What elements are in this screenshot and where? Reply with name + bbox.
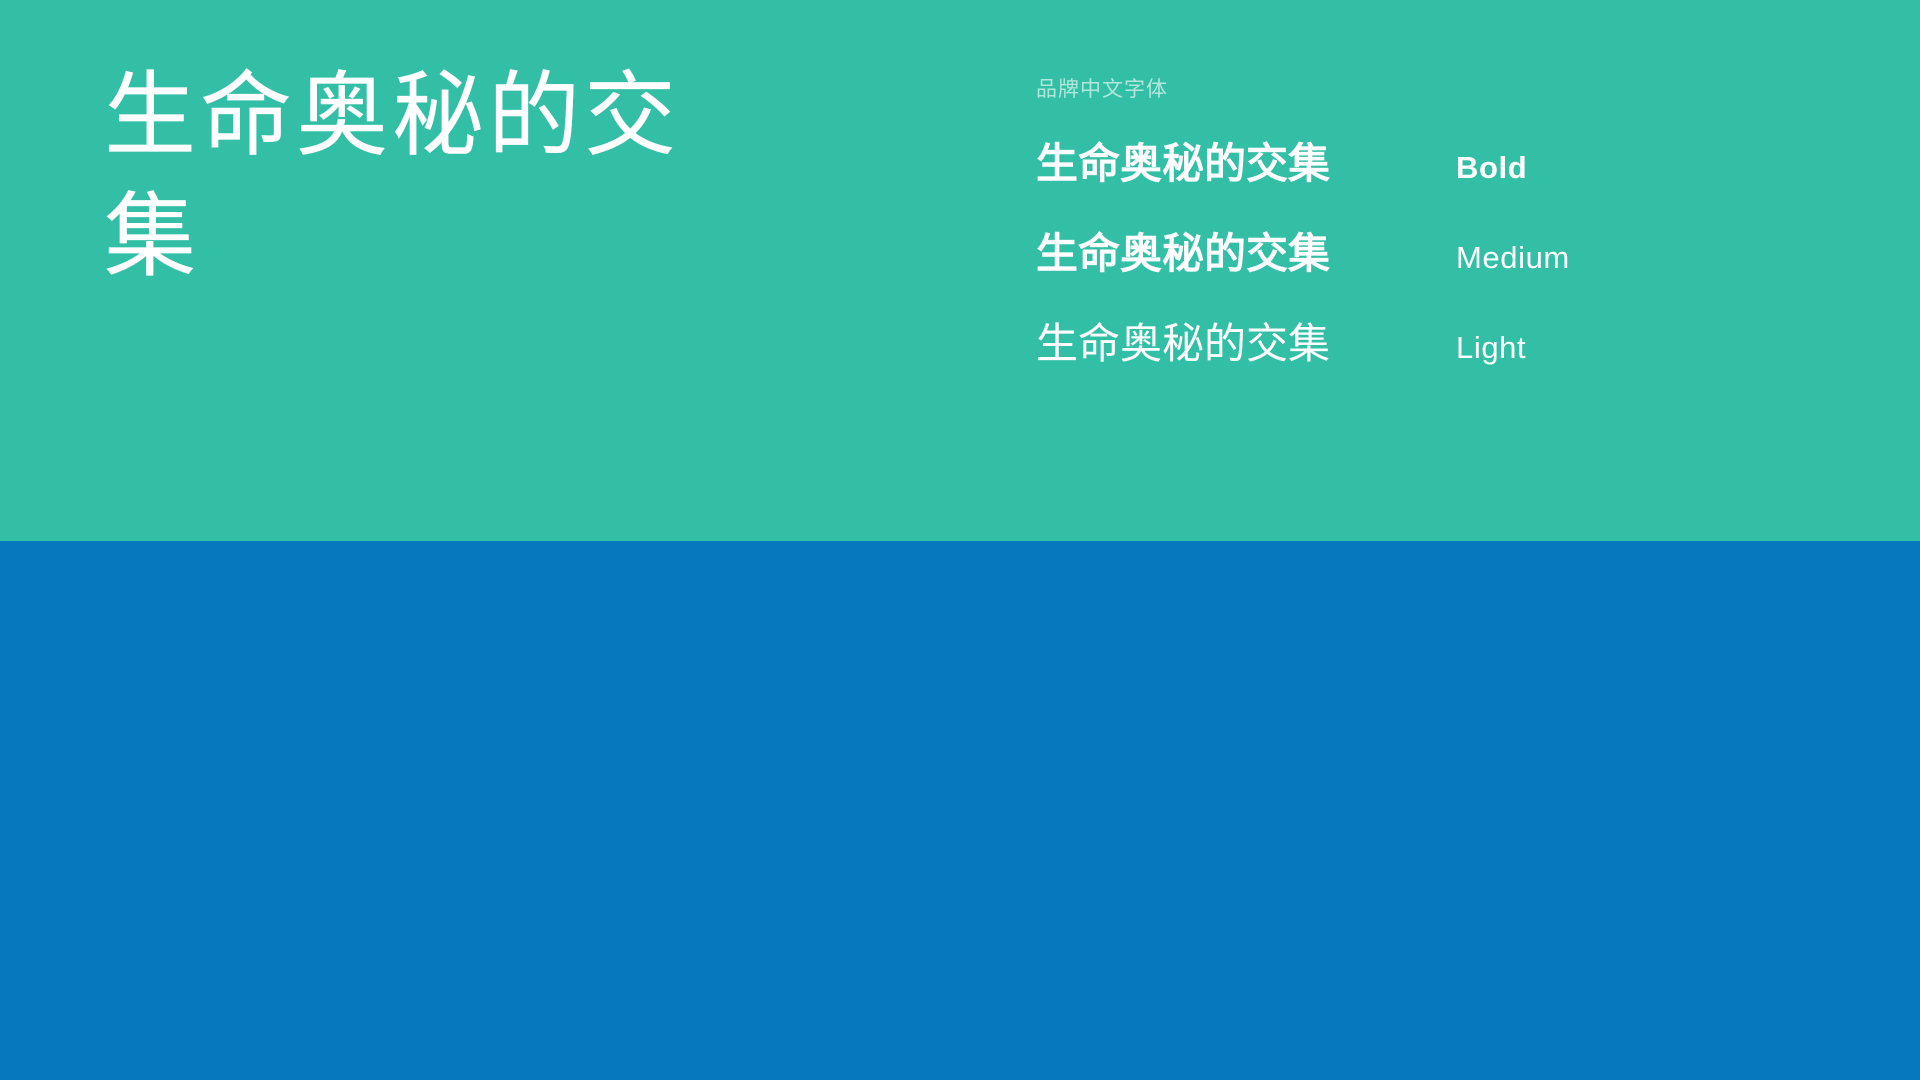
specimen-sample-chinese-light: 生命奥秘的交集 xyxy=(1036,310,1446,371)
chinese-hero-headline: 生命奥秘的交集 xyxy=(104,56,724,299)
specimen-weight-label-chinese-medium: Medium xyxy=(1456,240,1570,276)
specimen-row-chinese-light: 生命奥秘的交集 Light xyxy=(1036,310,1836,400)
english-font-panel: Brand English Font Mysteries of life Bol… xyxy=(0,541,1920,1080)
specimen-sample-chinese-bold: 生命奥秘的交集 xyxy=(1036,130,1446,191)
specimen-row-chinese-bold: 生命奥秘的交集 Bold xyxy=(1036,130,1836,220)
chinese-section-label: 品牌中文字体 xyxy=(1036,73,1168,103)
specimen-weight-label-chinese-bold: Bold xyxy=(1456,150,1527,186)
specimen-weight-label-chinese-light: Light xyxy=(1456,330,1526,366)
specimen-row-chinese-medium: 生命奥秘的交集 Medium xyxy=(1036,220,1836,310)
chinese-weight-specimen-list: 生命奥秘的交集 Bold 生命奥秘的交集 Medium 生命奥秘的交集 Ligh… xyxy=(1036,130,1836,400)
typography-specimen-board: 生命奥秘的交集 品牌中文字体 生命奥秘的交集 Bold 生命奥秘的交集 Medi… xyxy=(0,0,1920,1080)
chinese-font-panel: 生命奥秘的交集 品牌中文字体 生命奥秘的交集 Bold 生命奥秘的交集 Medi… xyxy=(0,0,1920,541)
specimen-sample-chinese-medium: 生命奥秘的交集 xyxy=(1036,220,1446,281)
